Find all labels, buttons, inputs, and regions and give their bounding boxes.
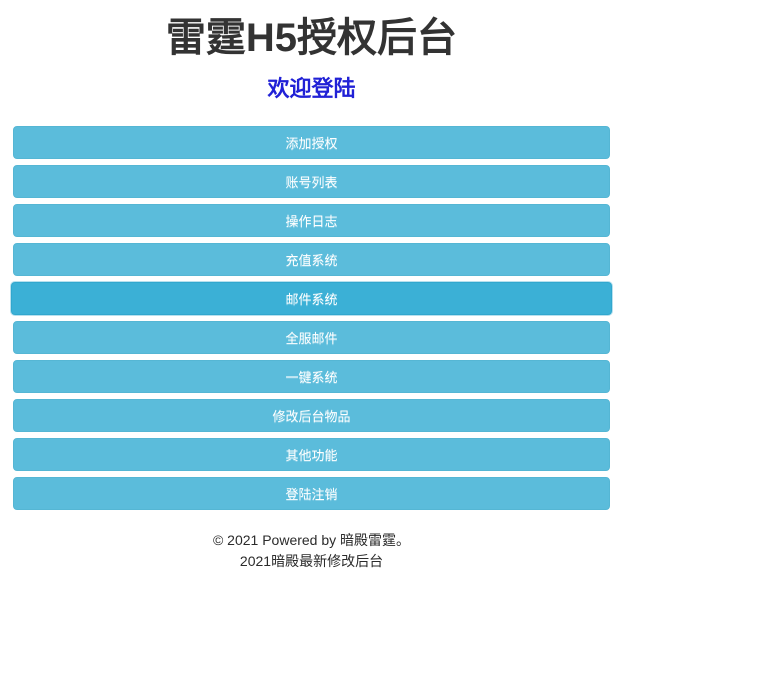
menu-item-other-functions[interactable]: 其他功能 (13, 438, 610, 471)
menu-item-server-wide-mail[interactable]: 全服邮件 (13, 321, 610, 354)
page-root: 雷霆H5授权后台 欢迎登陆 添加授权 账号列表 操作日志 充值系统 邮件系统 全… (0, 0, 777, 675)
main-menu: 添加授权 账号列表 操作日志 充值系统 邮件系统 全服邮件 一键系统 修改后台物… (13, 104, 610, 510)
welcome-subtitle: 欢迎登陆 (13, 64, 610, 104)
content-container: 雷霆H5授权后台 欢迎登陆 添加授权 账号列表 操作日志 充值系统 邮件系统 全… (0, 0, 610, 572)
footer: © 2021 Powered by 暗殿雷霆。 2021暗殿最新修改后台 (13, 516, 610, 572)
footer-copyright: © 2021 Powered by 暗殿雷霆。 (13, 530, 610, 551)
menu-item-operation-log[interactable]: 操作日志 (13, 204, 610, 237)
menu-item-account-list[interactable]: 账号列表 (13, 165, 610, 198)
menu-item-mail-system[interactable]: 邮件系统 (11, 282, 612, 315)
menu-item-recharge-system[interactable]: 充值系统 (13, 243, 610, 276)
menu-item-one-key-system[interactable]: 一键系统 (13, 360, 610, 393)
menu-item-edit-backend-items[interactable]: 修改后台物品 (13, 399, 610, 432)
footer-tagline: 2021暗殿最新修改后台 (13, 551, 610, 572)
menu-item-add-authorization[interactable]: 添加授权 (13, 126, 610, 159)
menu-item-logout[interactable]: 登陆注销 (13, 477, 610, 510)
page-title: 雷霆H5授权后台 (13, 0, 610, 64)
